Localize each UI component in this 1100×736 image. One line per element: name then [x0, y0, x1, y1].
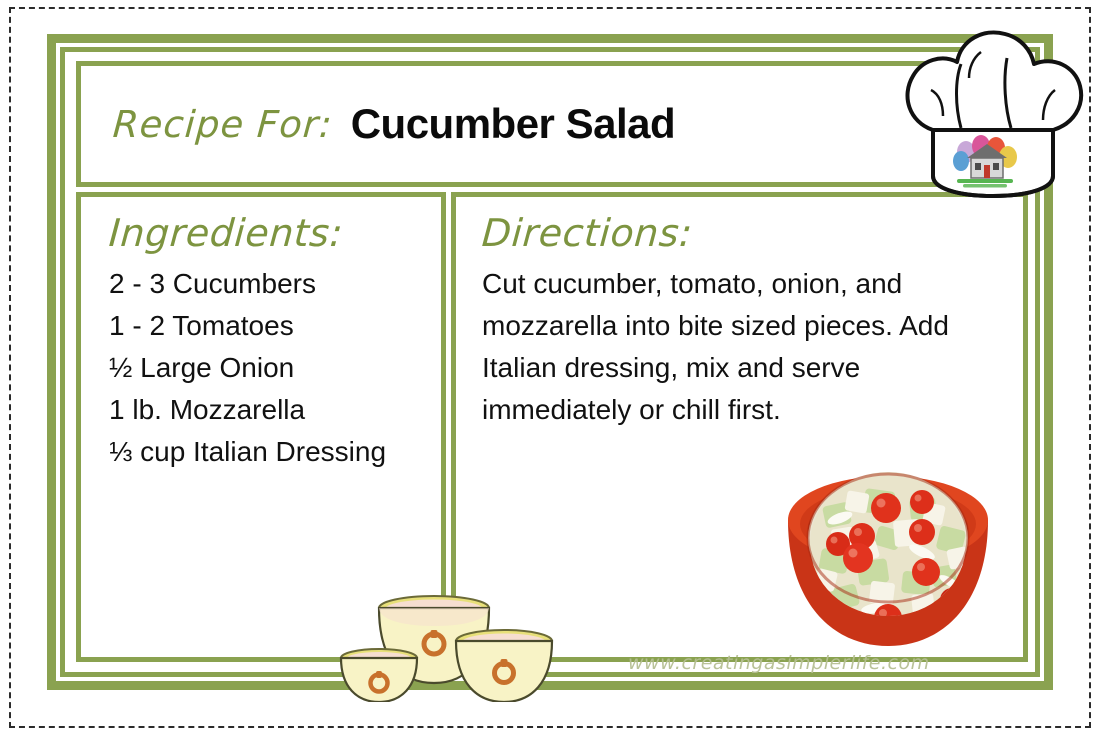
list-item: 1 - 2 Tomatoes — [109, 305, 441, 347]
recipe-card-page: Recipe For: Cucumber Salad Ingredients: … — [0, 0, 1100, 736]
list-item: ⅓ cup Italian Dressing — [109, 431, 441, 473]
ingredients-heading: Ingredients: — [107, 211, 442, 255]
cucumber-salad-bowl-photo — [772, 432, 1004, 654]
chef-hat-icon — [895, 18, 1090, 210]
recipe-for-label: Recipe For: — [111, 103, 334, 146]
nesting-mixing-bowls-icon — [338, 586, 556, 702]
recipe-header-box: Recipe For: Cucumber Salad — [76, 61, 1028, 187]
list-item: 2 - 3 Cucumbers — [109, 263, 441, 305]
website-watermark: www.creatingasimplerlife.com — [628, 652, 930, 674]
directions-heading: Directions: — [480, 211, 1024, 255]
recipe-title: Cucumber Salad — [351, 100, 675, 148]
ingredient-list: 2 - 3 Cucumbers 1 - 2 Tomatoes ½ Large O… — [109, 263, 441, 473]
list-item: 1 lb. Mozzarella — [109, 389, 441, 431]
directions-text: Cut cucumber, tomato, onion, and mozzare… — [482, 263, 992, 431]
list-item: ½ Large Onion — [109, 347, 441, 389]
